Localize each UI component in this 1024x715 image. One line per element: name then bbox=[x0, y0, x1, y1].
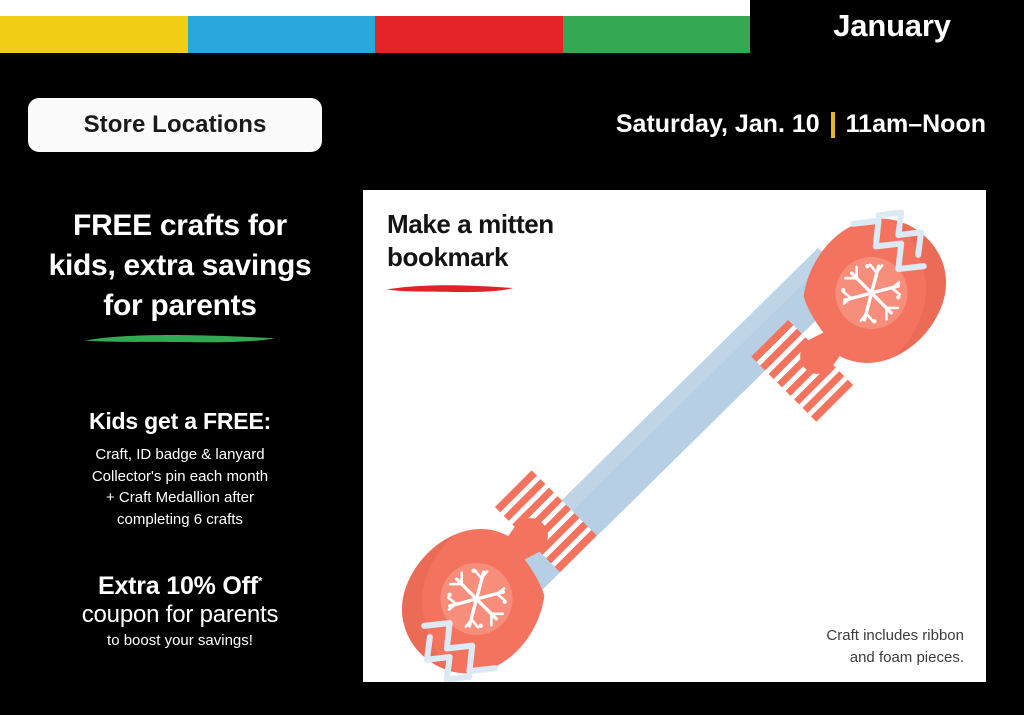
extra-offer-heading: Extra 10% Off* bbox=[20, 572, 340, 601]
store-locations-label: Store Locations bbox=[84, 111, 267, 139]
kids-benefit-item: Collector's pin each month bbox=[20, 466, 340, 488]
month-title: January bbox=[760, 8, 1024, 44]
store-locations-button[interactable]: Store Locations bbox=[28, 98, 322, 152]
left-promo-column: FREE crafts for kids, extra savings for … bbox=[20, 206, 340, 649]
headline-brush-underline-icon bbox=[82, 332, 278, 345]
craft-caption: Craft includes ribbon and foam pieces. bbox=[826, 625, 964, 668]
kids-benefits-list: Craft, ID badge & lanyard Collector's pi… bbox=[20, 444, 340, 532]
craft-caption-line-1: Craft includes ribbon bbox=[826, 625, 964, 646]
extra-offer-subline: coupon for parents bbox=[20, 601, 340, 628]
craft-caption-line-2: and foam pieces. bbox=[826, 647, 964, 668]
color-swatch-blue bbox=[188, 16, 376, 53]
event-date: Saturday, Jan. 10 bbox=[616, 110, 820, 139]
color-swatch-yellow bbox=[0, 16, 188, 53]
color-swatch-red bbox=[375, 16, 563, 53]
craft-title-line-2: bookmark bbox=[387, 241, 554, 274]
kids-benefit-item: + Craft Medallion after bbox=[20, 487, 340, 509]
kids-free-heading: Kids get a FREE: bbox=[20, 408, 340, 435]
datetime-divider bbox=[831, 112, 835, 138]
header-color-bar bbox=[0, 16, 750, 53]
promo-headline-line-2: kids, extra savings bbox=[20, 246, 340, 286]
promo-headline-line-1: FREE crafts for bbox=[20, 206, 340, 246]
extra-offer-asterisk: * bbox=[258, 576, 262, 588]
color-swatch-green bbox=[563, 16, 751, 53]
craft-title: Make a mitten bookmark bbox=[387, 208, 554, 274]
kids-benefit-item: Craft, ID badge & lanyard bbox=[20, 444, 340, 466]
extra-offer-note: to boost your savings! bbox=[20, 632, 340, 649]
craft-title-brush-underline-icon bbox=[385, 283, 515, 294]
craft-title-line-1: Make a mitten bbox=[387, 208, 554, 241]
kids-benefit-item: completing 6 crafts bbox=[20, 509, 340, 531]
event-datetime: Saturday, Jan. 10 11am–Noon bbox=[616, 110, 986, 139]
extra-offer-heading-text: Extra 10% Off bbox=[98, 572, 258, 600]
event-time: 11am–Noon bbox=[846, 110, 986, 139]
promo-headline-line-3: for parents bbox=[20, 286, 340, 326]
craft-card: Make a mitten bookmark Craft includes ri… bbox=[363, 190, 986, 682]
promo-headline: FREE crafts for kids, extra savings for … bbox=[20, 206, 340, 326]
header-white-strip bbox=[0, 0, 750, 16]
